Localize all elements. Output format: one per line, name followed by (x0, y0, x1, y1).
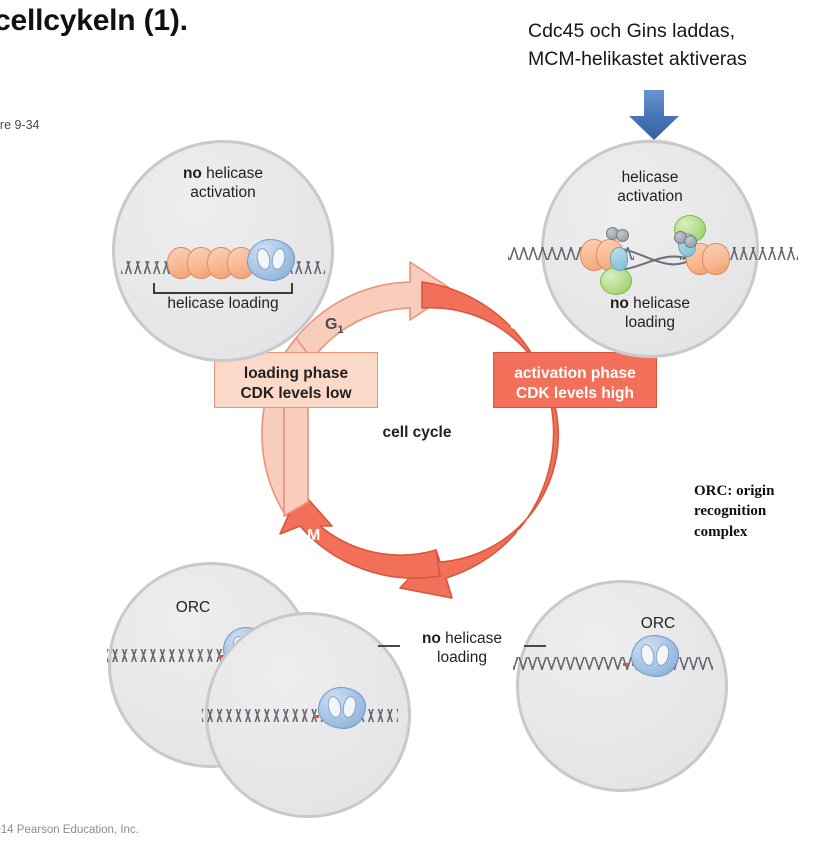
orc-protein (318, 687, 366, 729)
activation-phase-box: activation phase CDK levels high (493, 352, 657, 408)
annotation-line-1: Cdc45 och Gins laddas, (528, 18, 747, 46)
cell-diagram-s: helicase activation no helicase loading (541, 140, 759, 358)
cell-diagram-m-daughter-2 (205, 612, 411, 818)
phase-label-g2: G2 (516, 527, 535, 547)
g1-top-label: no helicase activation (115, 165, 331, 202)
cell-diagram-g1: no helicase activation helicase loading (112, 140, 334, 362)
orc-legend: ORC: origin recognition complex (694, 481, 774, 542)
activation-phase-line-1: activation phase (494, 364, 656, 384)
orc-protein (631, 635, 679, 677)
cdc45-protein (610, 247, 628, 271)
annotation-line-2: MCM-helikastet aktiveras (528, 46, 747, 74)
helicase-loading-bracket (153, 283, 293, 294)
accessory-subunit (616, 229, 629, 242)
cell-cycle-center-label: cell cycle (357, 424, 477, 442)
figure-number-label: gure 9-34 (0, 118, 40, 132)
orc-legend-line-3: complex (694, 522, 774, 542)
phase-label-s: S (510, 316, 521, 334)
activation-phase-line-2: CDK levels high (494, 384, 656, 404)
m-orc-label: ORC (93, 599, 293, 618)
slide-title: cellcykeln (1). (0, 4, 188, 38)
g1-top-rest: helicase (202, 165, 263, 182)
phase-label-g1: G1 (325, 316, 344, 336)
dna-strand (202, 709, 398, 722)
mid-callout-rest: helicase (441, 630, 502, 647)
g1-top-bold: no (183, 165, 202, 182)
s-bottom-bold: no (610, 295, 629, 312)
mid-callout-no-helicase-loading: no helicase loading (392, 630, 532, 667)
loading-phase-line-2: CDK levels low (215, 384, 377, 404)
accessory-subunit (684, 235, 697, 248)
mcm-subunit (702, 243, 730, 275)
s-bottom-rest: helicase (629, 295, 690, 312)
s-top-label: helicase activation (544, 169, 756, 206)
cell-diagram-g2: ORC (516, 580, 728, 792)
s-top-line-2: activation (544, 188, 756, 207)
phase-label-m: M (307, 527, 320, 545)
loading-phase-line-1: loading phase (215, 364, 377, 384)
gins-protein (600, 267, 632, 295)
orc-protein (247, 239, 295, 281)
g1-bracket-label: helicase loading (115, 295, 331, 314)
g2-orc-label: ORC (555, 615, 761, 634)
g1-top-line-2: activation (115, 184, 331, 203)
dna-strand (513, 657, 713, 670)
orc-legend-line-1: ORC: origin (694, 481, 774, 501)
annotation-cdc45-gins: Cdc45 och Gins laddas, MCM-helikastet ak… (528, 18, 747, 73)
mid-callout-line-2: loading (392, 649, 532, 668)
copyright-text: 2014 Pearson Education, Inc. (0, 824, 139, 836)
s-top-line-1: helicase (544, 169, 756, 188)
orc-legend-line-2: recognition (694, 501, 774, 521)
s-bottom-line-2: loading (544, 314, 756, 333)
s-bottom-label: no helicase loading (544, 295, 756, 332)
mid-callout-bold: no (422, 630, 441, 647)
